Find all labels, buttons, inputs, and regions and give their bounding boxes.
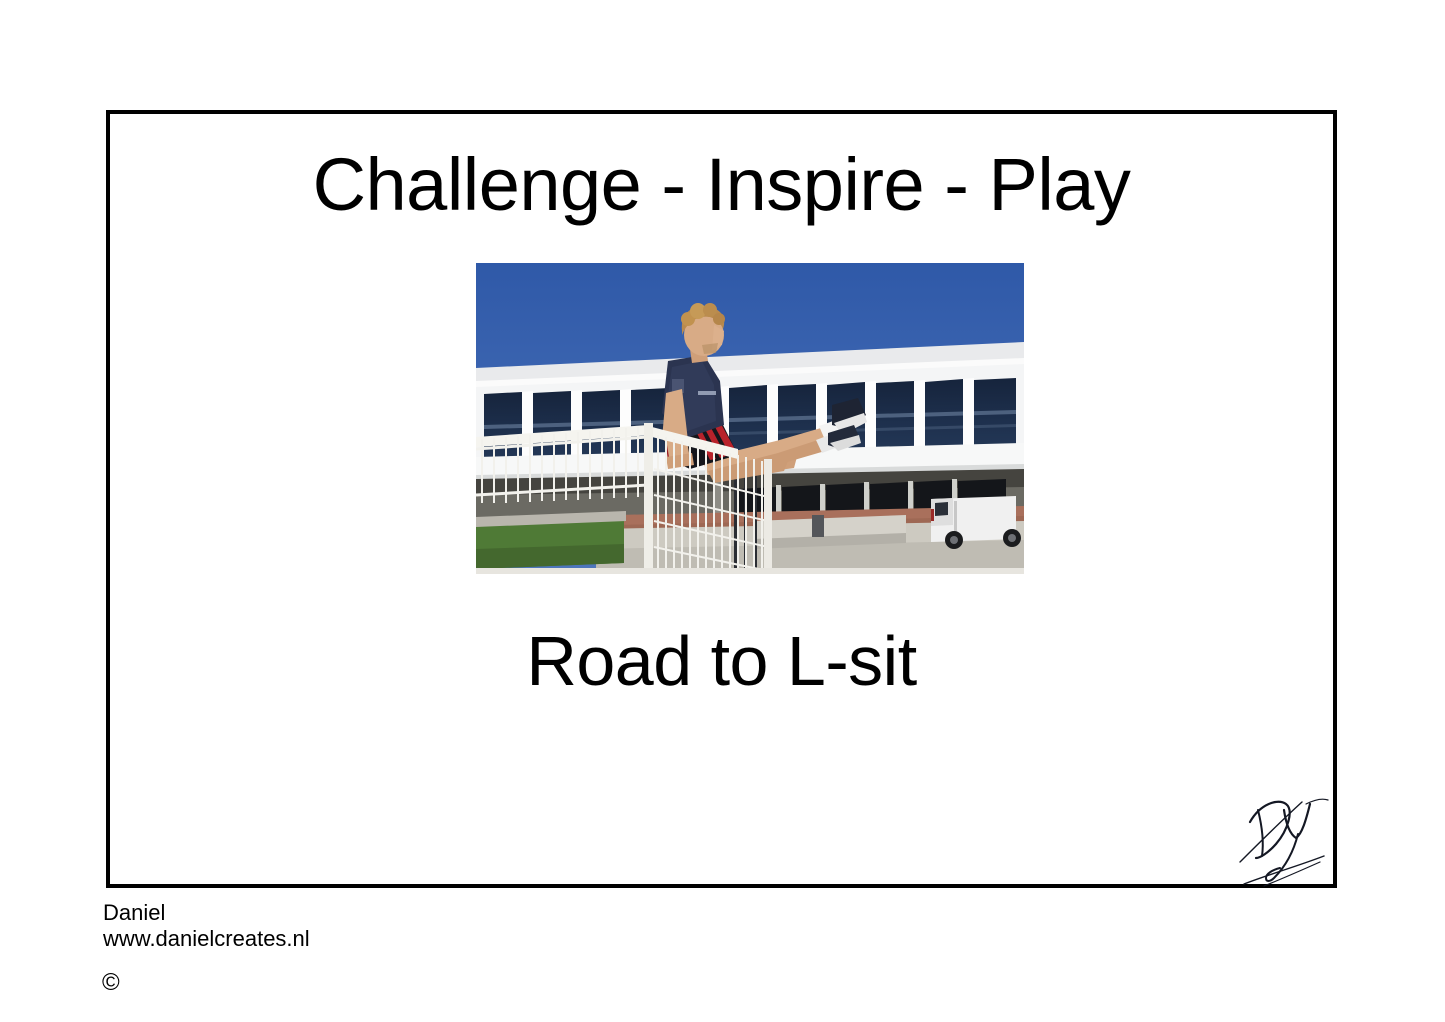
signature-icon xyxy=(1228,774,1346,892)
signature-mark xyxy=(1228,774,1346,892)
copyright-symbol: © xyxy=(102,971,120,995)
hero-photo xyxy=(476,263,1024,574)
footer-credit: Daniel www.danielcreates.nl xyxy=(103,900,310,952)
footer-author: Daniel xyxy=(103,900,310,926)
page-title: Challenge - Inspire - Play xyxy=(110,148,1333,222)
footer-website[interactable]: www.danielcreates.nl xyxy=(103,926,310,952)
page-subtitle: Road to L-sit xyxy=(110,626,1333,696)
hero-photo-illustration xyxy=(476,263,1024,574)
slide-frame: Challenge - Inspire - Play xyxy=(106,110,1337,888)
